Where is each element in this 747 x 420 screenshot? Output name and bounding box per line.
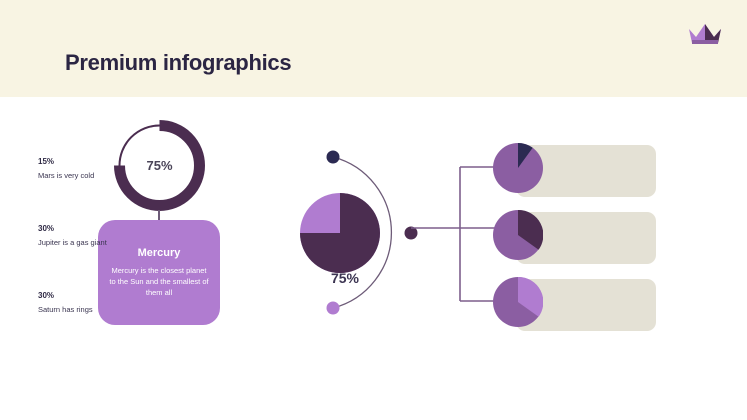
header-band <box>0 0 747 97</box>
crown-icon <box>685 18 725 50</box>
mars-pie-chart <box>493 143 543 193</box>
fact-text-saturn: 30% Saturn has rings <box>38 291 93 314</box>
jupiter-pie-chart <box>493 210 543 260</box>
donut-value-label: 75% <box>112 118 207 213</box>
mercury-card-title: Mercury <box>138 247 181 259</box>
mercury-donut-chart: 75% <box>112 118 207 213</box>
fact-value-mars: 15% <box>38 157 94 166</box>
mercury-card-description: Mercury is the closest planet to the Sun… <box>109 265 209 298</box>
center-pie-value-label: 75% <box>300 270 390 286</box>
saturn-pie-chart <box>493 277 543 327</box>
fact-description-jupiter: Jupiter is a gas giant <box>38 238 107 247</box>
orbit-dot-top <box>327 151 340 164</box>
fact-description-mars: Mars is very cold <box>38 171 94 180</box>
fact-text-mars: 15% Mars is very cold <box>38 157 94 180</box>
slide-canvas: Premium infographics 75% Mercury Mercury… <box>0 0 747 420</box>
orbit-dot-bottom <box>327 302 340 315</box>
page-title: Premium infographics <box>65 50 291 76</box>
fact-text-jupiter: 30% Jupiter is a gas giant <box>38 224 107 247</box>
mercury-info-card[interactable]: Mercury Mercury is the closest planet to… <box>98 220 220 325</box>
fact-description-saturn: Saturn has rings <box>38 305 93 314</box>
fact-value-jupiter: 30% <box>38 224 107 233</box>
fact-value-saturn: 30% <box>38 291 93 300</box>
